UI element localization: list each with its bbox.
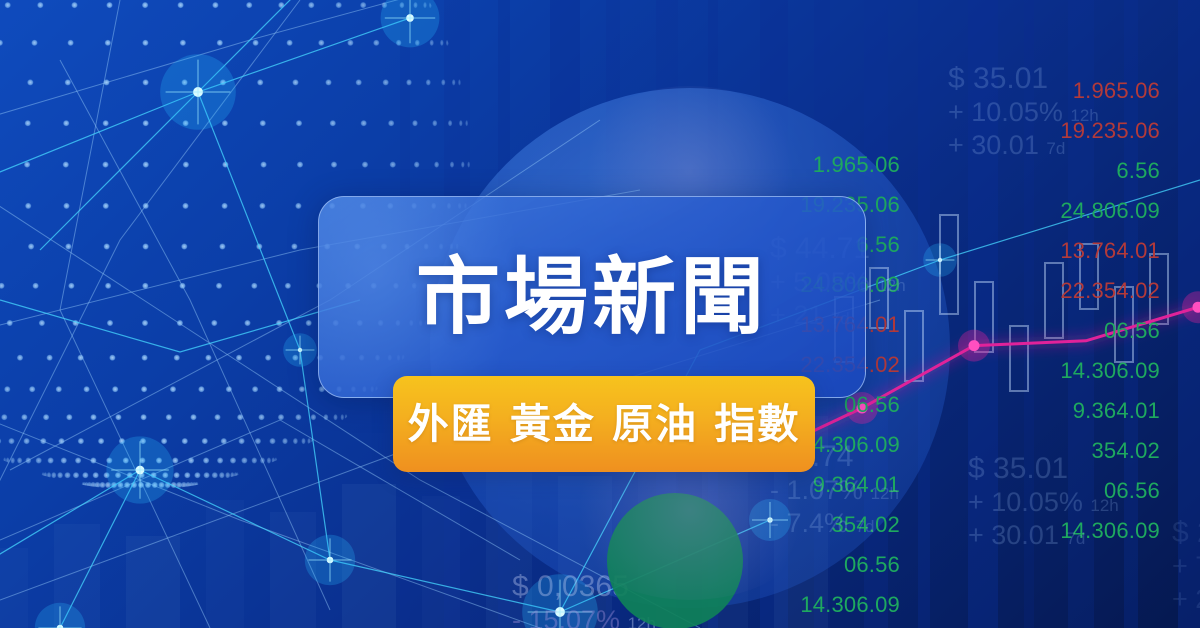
quote-price: $ 35.01	[968, 452, 1119, 486]
tagline-pill[interactable]: 外匯 黃金 原油 指數	[393, 376, 815, 472]
quote-change-12h: + 7	[1172, 550, 1200, 583]
tagline-label: 外匯 黃金 原油 指數	[408, 404, 801, 445]
ticker-value: 24.806.09	[1060, 198, 1160, 224]
ticker-value: 6.56	[1116, 158, 1160, 184]
ticker-value: 14.306.09	[1060, 358, 1160, 384]
quote-change-7d: + 30.01 7d	[948, 129, 1099, 162]
ticker-value: 06.56	[1104, 318, 1160, 344]
quote-price: $ 2	[1172, 516, 1200, 550]
quote-far-right: $ 2 + 7 + 2	[1172, 516, 1200, 616]
quote-price: $ 35.01	[948, 62, 1099, 96]
ticker-value: 06.56	[844, 392, 900, 418]
quote-change-12h: + 10.05% 12h	[968, 486, 1119, 519]
ticker-value: 13.764.01	[1060, 238, 1160, 264]
quote-change-7d: + 30.01 7d	[968, 519, 1119, 552]
ticker-value: 9.364.01	[1073, 398, 1160, 424]
quote-change-7d: + 2	[1172, 583, 1200, 616]
ticker-value: 1.965.06	[813, 152, 900, 178]
quote-top-right: $ 35.01 + 10.05% 12h + 30.01 7d	[948, 62, 1099, 162]
market-news-banner: 1.965.0619.235.066.5624.806.0913.764.012…	[0, 0, 1200, 628]
quote-change-12h: + 10.05% 12h	[948, 96, 1099, 129]
ticker-value: 06.56	[844, 552, 900, 578]
ticker-value: 22.354.02	[1060, 278, 1160, 304]
trend-node	[969, 340, 980, 351]
page-title: 市場新聞	[416, 255, 768, 339]
title-card: 市場新聞	[318, 196, 866, 398]
quote-bottom-right: $ 35.01 + 10.05% 12h + 30.01 7d	[968, 452, 1119, 552]
ticker-value: 14.306.09	[800, 592, 900, 618]
